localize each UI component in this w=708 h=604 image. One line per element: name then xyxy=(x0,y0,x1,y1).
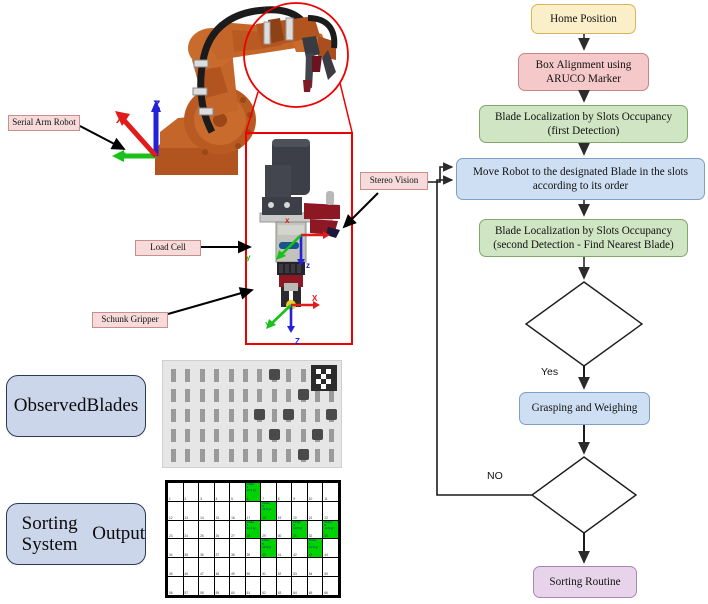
base-axis-z: Z xyxy=(153,99,160,111)
grid-cell[interactable]: 57 xyxy=(183,577,199,596)
grid-cell-number: 16 xyxy=(231,516,235,520)
tray-slot xyxy=(200,429,205,442)
grid-cell[interactable]: 63 xyxy=(276,577,292,596)
tray-slot xyxy=(171,449,176,462)
grid-cell[interactable]: 25 xyxy=(199,520,215,539)
grid-cell[interactable]: 58 xyxy=(199,577,215,596)
grid-cell-order-info: Order:513.0 gr xyxy=(262,539,271,548)
tray-slot xyxy=(329,429,334,442)
grid-cell-order-info: Order:214.8 gr xyxy=(262,502,271,511)
grid-cell-number: 6 xyxy=(247,497,249,501)
magnified-end-effector xyxy=(250,10,342,100)
tray-blade xyxy=(298,389,309,400)
observed-blades-tray xyxy=(162,360,342,468)
grid-cell[interactable]: 4 xyxy=(214,483,230,502)
grid-cell[interactable]: 36 xyxy=(199,539,215,558)
grid-cell[interactable]: 20 xyxy=(292,501,308,520)
tray-slot xyxy=(214,409,219,422)
tray-slot xyxy=(257,429,262,442)
grid-cell[interactable]: 14 xyxy=(199,501,215,520)
tray-slot xyxy=(171,429,176,442)
grid-cell[interactable]: 21 xyxy=(307,501,323,520)
grid-cell-number: 38 xyxy=(231,553,235,557)
tray-blade xyxy=(298,449,309,460)
observed-blades-label: ObservedBlades xyxy=(6,375,146,437)
tray-slot xyxy=(272,449,277,462)
grid-cell[interactable]: 28Order:314.1 gr xyxy=(245,520,261,539)
grid-cell-number: 11 xyxy=(324,497,327,501)
grid-cell-order-info: Order:712.5 gr xyxy=(309,539,318,548)
flow-node-box-alignment[interactable]: Box Alignment usingARUCO Marker xyxy=(518,53,649,91)
grid-cell[interactable]: 24 xyxy=(183,520,199,539)
gripper-assembly-photo xyxy=(248,135,350,342)
grid-cell-number: 45 xyxy=(169,572,173,576)
loadcell-axis-x: x xyxy=(285,217,289,225)
grid-cell[interactable]: 53 xyxy=(292,558,308,577)
tray-slot xyxy=(185,429,190,442)
flow-node-sorting-routine-label: Sorting Routine xyxy=(549,575,620,589)
grid-cell-order-info: Order:413.5 gr xyxy=(293,521,302,530)
tray-slot xyxy=(315,409,320,422)
grid-cell-order-info: Order:612.9 gr xyxy=(324,521,333,530)
grid-cell-number: 61 xyxy=(247,591,251,595)
flow-node-grasping-weighing[interactable]: Grasping and Weighing xyxy=(519,392,650,425)
grid-cell-number: 37 xyxy=(216,553,220,557)
grid-cell-number: 21 xyxy=(309,516,313,520)
grid-cell-number: 12 xyxy=(169,516,173,520)
grid-cell-number: 26 xyxy=(216,534,220,538)
grid-cell-number: 58 xyxy=(200,591,204,595)
tray-slot xyxy=(200,409,205,422)
grid-cell-number: 34 xyxy=(169,553,173,557)
grid-cell[interactable]: 55 xyxy=(323,558,339,577)
grid-row: 123456Order:115.2 gr7891011 xyxy=(168,483,339,502)
flow-decision-found-blade[interactable]: Found a Blade ? xyxy=(544,317,625,329)
grid-row: 34353637383940Order:513.0 gr414243Order:… xyxy=(168,539,339,558)
tray-slot xyxy=(257,369,262,382)
grid-cell[interactable]: 62 xyxy=(261,577,277,596)
grid-cell-number: 9 xyxy=(293,497,295,501)
grid-cell-number: 40 xyxy=(262,553,266,557)
grid-cell[interactable]: 33Order:612.9 gr xyxy=(323,520,339,539)
grid-cell-number: 18 xyxy=(262,516,266,520)
tray-slot xyxy=(214,369,219,382)
grid-cell[interactable]: 27 xyxy=(230,520,246,539)
grid-cell[interactable]: 32 xyxy=(307,520,323,539)
callout-stereo-vision: Stereo Vision xyxy=(360,172,428,190)
flow-node-move-robot[interactable]: Move Robot to the designated Blade in th… xyxy=(456,158,705,200)
grid-cell[interactable]: 12 xyxy=(168,501,184,520)
grid-cell[interactable]: 31Order:413.5 gr xyxy=(292,520,308,539)
tray-slot xyxy=(200,369,205,382)
tray-slot xyxy=(286,389,291,402)
flow-node-blade-localization-second-label: Blade Localization by Slots Occupancy(se… xyxy=(493,224,674,253)
grid-cell[interactable]: 49 xyxy=(230,558,246,577)
tray-slot xyxy=(229,449,234,462)
callout-serial-arm-robot: Serial Arm Robot xyxy=(8,115,80,131)
tray-slot xyxy=(315,449,320,462)
tray-slot xyxy=(286,429,291,442)
tray-slot xyxy=(301,409,306,422)
tray-slot xyxy=(272,409,277,422)
grid-cell-number: 8 xyxy=(278,497,280,501)
grid-row: 232425262728Order:314.1 gr293031Order:41… xyxy=(168,520,339,539)
flow-node-move-robot-label: Move Robot to the designated Blade in th… xyxy=(473,165,688,194)
tray-slot xyxy=(214,429,219,442)
tray-slot xyxy=(185,369,190,382)
grid-cell[interactable]: 30 xyxy=(276,520,292,539)
grid-cell-number: 2 xyxy=(185,497,187,501)
grid-cell[interactable]: 18Order:214.8 gr xyxy=(261,501,277,520)
grid-cell[interactable]: 8 xyxy=(276,483,292,502)
grid-cell-number: 49 xyxy=(231,572,235,576)
grid-cell-number: 44 xyxy=(324,553,328,557)
grid-cell[interactable]: 15 xyxy=(214,501,230,520)
tray-slot xyxy=(229,409,234,422)
flow-decision-last-blade[interactable]: Last Blade? xyxy=(555,488,613,500)
grid-cell-number: 36 xyxy=(200,553,204,557)
grid-cell-order-info: Order:115.2 gr xyxy=(247,483,256,492)
tray-slot xyxy=(185,409,190,422)
gripper-axis-x: X xyxy=(312,295,317,303)
grid-cell[interactable]: 48 xyxy=(214,558,230,577)
tray-slot xyxy=(301,429,306,442)
grid-cell[interactable]: 38 xyxy=(230,539,246,558)
base-axis-x: X xyxy=(116,113,124,125)
grid-cell-number: 56 xyxy=(169,591,173,595)
tray-slot xyxy=(243,409,248,422)
grid-cell-number: 43 xyxy=(309,553,313,557)
grid-cell-number: 66 xyxy=(324,591,328,595)
grid-cell[interactable]: 29 xyxy=(261,520,277,539)
grid-cell[interactable]: 23 xyxy=(168,520,184,539)
grid-cell[interactable]: 43Order:712.5 gr xyxy=(307,539,323,558)
tray-slot xyxy=(243,429,248,442)
grid-cell[interactable]: 61 xyxy=(245,577,261,596)
tray-slot xyxy=(329,449,334,462)
tray-slot xyxy=(200,449,205,462)
grid-cell[interactable]: 1 xyxy=(168,483,184,502)
tray-blade xyxy=(254,409,265,420)
grid-cell-number: 62 xyxy=(262,591,266,595)
gripper-axis-z: Z xyxy=(295,338,300,346)
grid-cell-number: 47 xyxy=(200,572,204,576)
grid-cell[interactable]: 59 xyxy=(214,577,230,596)
flow-node-blade-localization-first[interactable]: Blade Localization by Slots Occupancy(fi… xyxy=(479,105,688,143)
tray-blade xyxy=(283,409,294,420)
grid-cell-number: 59 xyxy=(216,591,220,595)
grid-cell-number: 50 xyxy=(247,572,251,576)
grid-cell[interactable]: 6Order:115.2 gr xyxy=(245,483,261,502)
tray-slot xyxy=(272,389,277,402)
tray-slot xyxy=(257,449,262,462)
grid-cell[interactable]: 35 xyxy=(183,539,199,558)
grid-cell-number: 48 xyxy=(216,572,220,576)
grid-cell[interactable]: 26 xyxy=(214,520,230,539)
loadcell-axis-y: y xyxy=(246,254,250,262)
grid-cell[interactable]: 56 xyxy=(168,577,184,596)
tray-slot xyxy=(185,449,190,462)
flow-node-box-alignment-label: Box Alignment usingARUCO Marker xyxy=(536,58,632,87)
grid-cell-number: 60 xyxy=(231,591,235,595)
grid-cell-number: 25 xyxy=(200,534,204,538)
tray-slot xyxy=(229,429,234,442)
grid-cell-number: 30 xyxy=(278,534,282,538)
grid-cell-number: 35 xyxy=(185,553,189,557)
grid-cell[interactable]: 22 xyxy=(323,501,339,520)
grid-cell-number: 41 xyxy=(278,553,282,557)
sorting-system-output-label: Sorting SystemOutput xyxy=(6,503,146,565)
grid-cell[interactable]: 37 xyxy=(214,539,230,558)
base-axis-y: Y xyxy=(118,151,126,163)
grid-cell[interactable]: 13 xyxy=(183,501,199,520)
grid-cell[interactable]: 7 xyxy=(261,483,277,502)
tray-slot xyxy=(229,369,234,382)
grid-cell-number: 3 xyxy=(200,497,202,501)
grid-cell[interactable]: 65 xyxy=(307,577,323,596)
tray-blade xyxy=(326,409,337,420)
sorting-system-output-grid: 123456Order:115.2 gr78910111213141516171… xyxy=(165,480,341,598)
tray-slot xyxy=(301,369,306,382)
grid-cell-number: 55 xyxy=(324,572,328,576)
grid-cell-number: 1 xyxy=(169,497,171,501)
grid-cell[interactable]: 50 xyxy=(245,558,261,577)
grid-cell-number: 27 xyxy=(231,534,235,538)
grid-cell-number: 24 xyxy=(185,534,189,538)
grid-cell[interactable]: 9 xyxy=(292,483,308,502)
grid-cell[interactable]: 46 xyxy=(183,558,199,577)
grid-cell[interactable]: 16 xyxy=(230,501,246,520)
grid-row: 4546474849505152535455 xyxy=(168,558,339,577)
callout-load-cell: Load Cell xyxy=(135,240,201,256)
tray-blade xyxy=(312,429,323,440)
grid-cell-number: 42 xyxy=(293,553,297,557)
callout-schunk-gripper: Schunk Gripper xyxy=(92,312,168,328)
grid-cell[interactable]: 47 xyxy=(199,558,215,577)
tray-slot xyxy=(214,449,219,462)
flow-node-grasping-weighing-label: Grasping and Weighing xyxy=(532,401,638,415)
grid-cell[interactable]: 10 xyxy=(307,483,323,502)
grid-cell[interactable]: 42 xyxy=(292,539,308,558)
grid-cell-number: 14 xyxy=(200,516,204,520)
loadcell-axis-z: z xyxy=(306,262,310,270)
grid-cell-number: 63 xyxy=(278,591,282,595)
grid-cell[interactable]: 3 xyxy=(199,483,215,502)
tray-slot xyxy=(171,409,176,422)
flow-node-sorting-routine[interactable]: Sorting Routine xyxy=(533,566,637,598)
grid-cell[interactable]: 34 xyxy=(168,539,184,558)
tray-slot xyxy=(286,369,291,382)
tray-slot xyxy=(229,389,234,402)
grid-cell-number: 54 xyxy=(309,572,313,576)
grid-cell[interactable]: 66 xyxy=(323,577,339,596)
tray-slot xyxy=(171,389,176,402)
grid-cell[interactable]: 39 xyxy=(245,539,261,558)
grid-cell-number: 5 xyxy=(231,497,233,501)
grid-cell[interactable]: 54 xyxy=(307,558,323,577)
grid-cell[interactable]: 60 xyxy=(230,577,246,596)
grid-cell[interactable]: 52 xyxy=(276,558,292,577)
grid-row: 12131415161718Order:214.8 gr19202122 xyxy=(168,501,339,520)
tray-slot xyxy=(243,449,248,462)
tray-blade xyxy=(269,369,280,380)
tray-row xyxy=(171,449,344,462)
grid-cell-number: 31 xyxy=(293,534,297,538)
grid-cell-number: 57 xyxy=(185,591,189,595)
grid-cell-number: 15 xyxy=(216,516,220,520)
grid-cell[interactable]: 17 xyxy=(245,501,261,520)
grid-cell-number: 65 xyxy=(309,591,313,595)
tray-slot xyxy=(214,389,219,402)
grid-cell[interactable]: 45 xyxy=(168,558,184,577)
aruco-marker xyxy=(311,365,337,391)
grid-cell-number: 46 xyxy=(185,572,189,576)
edge-label-yes: Yes xyxy=(541,366,558,378)
edge-label-no: NO xyxy=(487,470,503,482)
tray-slot xyxy=(286,449,291,462)
grid-cell[interactable]: 51 xyxy=(261,558,277,577)
grid-cell[interactable]: 41 xyxy=(276,539,292,558)
grid-cell[interactable]: 2 xyxy=(183,483,199,502)
grid-cell[interactable]: 11 xyxy=(323,483,339,502)
tray-slot xyxy=(200,389,205,402)
grid-cell[interactable]: 64 xyxy=(292,577,308,596)
grid-cell-number: 53 xyxy=(293,572,297,576)
grid-row: 5657585960616263646566 xyxy=(168,577,339,596)
grid-cell-number: 51 xyxy=(262,572,266,576)
flow-node-home-position-label: Home Position xyxy=(550,12,617,26)
flow-node-blade-localization-second[interactable]: Blade Localization by Slots Occupancy(se… xyxy=(479,219,688,257)
gripper-axis-y: Y xyxy=(265,322,270,330)
grid-cell-number: 33 xyxy=(324,534,328,538)
grid-cell[interactable]: 40Order:513.0 gr xyxy=(261,539,277,558)
grid-cell-number: 13 xyxy=(185,516,189,520)
grid-cell-number: 52 xyxy=(278,572,282,576)
grid-cell-number: 23 xyxy=(169,534,173,538)
tray-blade xyxy=(269,429,280,440)
tray-slot xyxy=(185,389,190,402)
tray-slot xyxy=(243,369,248,382)
grid-cell[interactable]: 5 xyxy=(230,483,246,502)
tray-slot xyxy=(257,389,262,402)
grid-cell-number: 10 xyxy=(309,497,313,501)
grid-cell-number: 64 xyxy=(293,591,297,595)
grid-cell-order-info: Order:314.1 gr xyxy=(247,521,256,530)
grid-cell[interactable]: 19 xyxy=(276,501,292,520)
grid-cell[interactable]: 44 xyxy=(323,539,339,558)
grid-cell-number: 4 xyxy=(216,497,218,501)
tray-slot xyxy=(243,389,248,402)
tray-slot xyxy=(171,369,176,382)
flow-node-blade-localization-first-label: Blade Localization by Slots Occupancy(fi… xyxy=(495,110,672,139)
flow-node-home-position[interactable]: Home Position xyxy=(531,4,636,34)
grid-cell-number: 19 xyxy=(278,516,282,520)
grid-cell-number: 39 xyxy=(247,553,251,557)
grid-cell-number: 28 xyxy=(247,534,251,538)
